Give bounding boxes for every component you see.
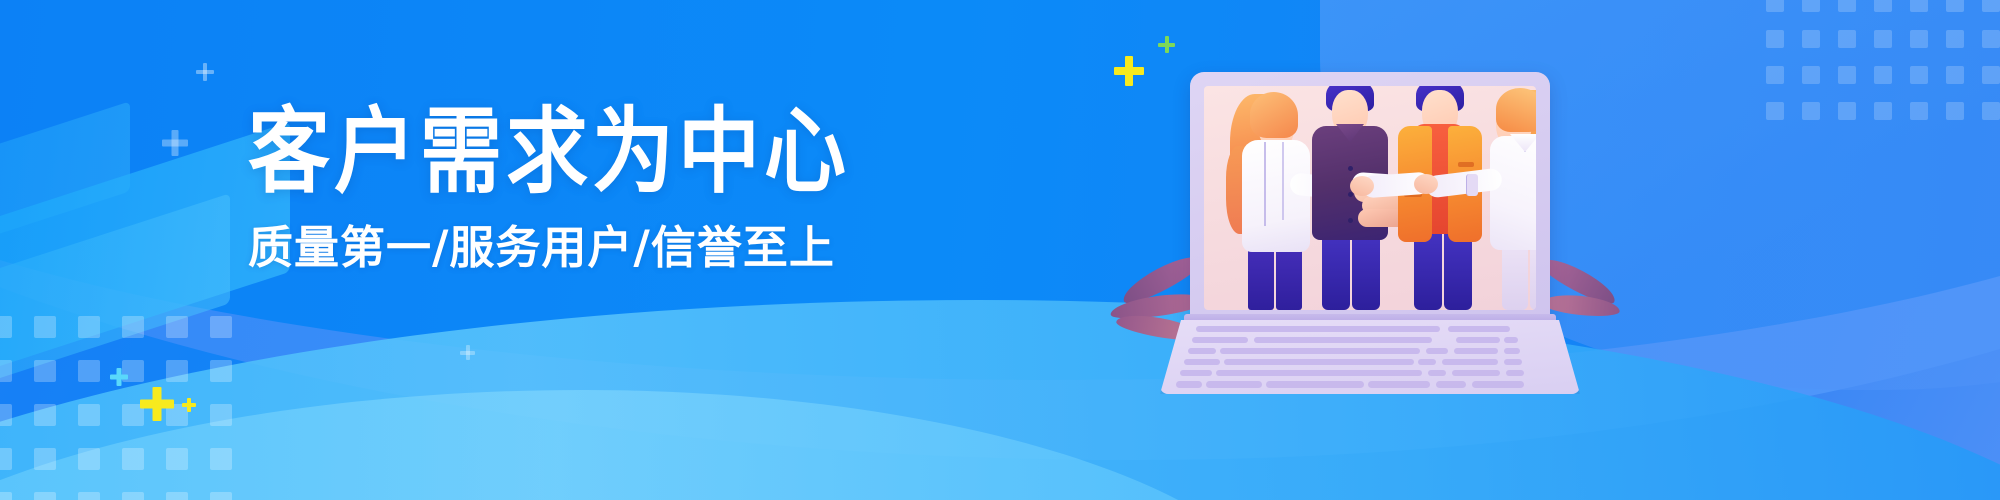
cuff: [1466, 174, 1478, 196]
key: [1184, 359, 1220, 365]
banner-text-block: 客户需求为中心 质量第一/服务用户/信誉至上: [248, 104, 948, 273]
hair-front: [1496, 88, 1536, 132]
key: [1452, 370, 1500, 376]
plus-icon-yellow-tiny-bottom: [182, 398, 196, 412]
background-wave-bottom-light: [0, 300, 2000, 500]
key: [1506, 370, 1524, 376]
key: [1224, 359, 1414, 365]
key: [1192, 337, 1248, 343]
key: [1504, 337, 1518, 343]
page-subtitle: 质量第一/服务用户/信誉至上: [248, 223, 948, 273]
key: [1454, 348, 1498, 354]
key: [1188, 348, 1216, 354]
key: [1180, 370, 1212, 376]
key: [1196, 326, 1440, 332]
plus-icon-white-mid: [162, 130, 188, 156]
plus-icon-green-small-top: [1158, 36, 1175, 53]
key: [1266, 381, 1364, 388]
key: [1418, 359, 1436, 365]
plus-icon-white-upper: [196, 63, 214, 81]
hand: [1350, 176, 1374, 196]
person-woman-right: [1474, 86, 1536, 310]
hand: [1414, 174, 1438, 194]
promo-banner: 客户需求为中心 质量第一/服务用户/信誉至上: [0, 0, 2000, 500]
laptop-screen-content: [1204, 86, 1536, 310]
key: [1220, 348, 1420, 354]
shirt-button-1: [1348, 166, 1353, 171]
laptop-keyboard: [1160, 320, 1580, 394]
background-chevron-lower: [0, 193, 230, 426]
blazer-pocket-right: [1458, 162, 1474, 167]
square-grid-top-right: [1766, 0, 2000, 120]
key: [1428, 370, 1446, 376]
key: [1368, 381, 1430, 388]
key: [1436, 381, 1466, 388]
key: [1504, 359, 1522, 365]
plus-icon-cyan-small-bottom: [110, 368, 128, 386]
plus-icon-white-low: [460, 345, 475, 360]
key: [1216, 370, 1422, 376]
background-chevron-upper: [0, 101, 130, 288]
background-chevron-main: [0, 122, 290, 408]
teamwork-laptop-illustration: [1160, 72, 1580, 402]
key-spacebar: [1176, 381, 1202, 388]
key: [1504, 348, 1520, 354]
square-grid-bottom-left: [0, 316, 232, 500]
laptop-screen-shell: [1190, 72, 1550, 322]
key: [1206, 381, 1262, 388]
plus-icon-yellow-large-top: [1114, 56, 1144, 86]
blazer-lapel: [1264, 142, 1266, 226]
key: [1448, 326, 1510, 332]
shirt-button-3: [1348, 218, 1353, 223]
key: [1456, 337, 1500, 343]
background-wave-bottom-light-2: [0, 390, 1300, 500]
torso-shirt: [1490, 136, 1536, 250]
key: [1426, 348, 1448, 354]
key: [1254, 337, 1432, 343]
key: [1442, 359, 1498, 365]
blazer-lapel-2: [1282, 142, 1284, 220]
plus-icon-yellow-large-bottom: [140, 387, 174, 421]
hair-front: [1250, 92, 1298, 138]
page-title: 客户需求为中心: [248, 104, 948, 201]
key: [1472, 381, 1524, 388]
